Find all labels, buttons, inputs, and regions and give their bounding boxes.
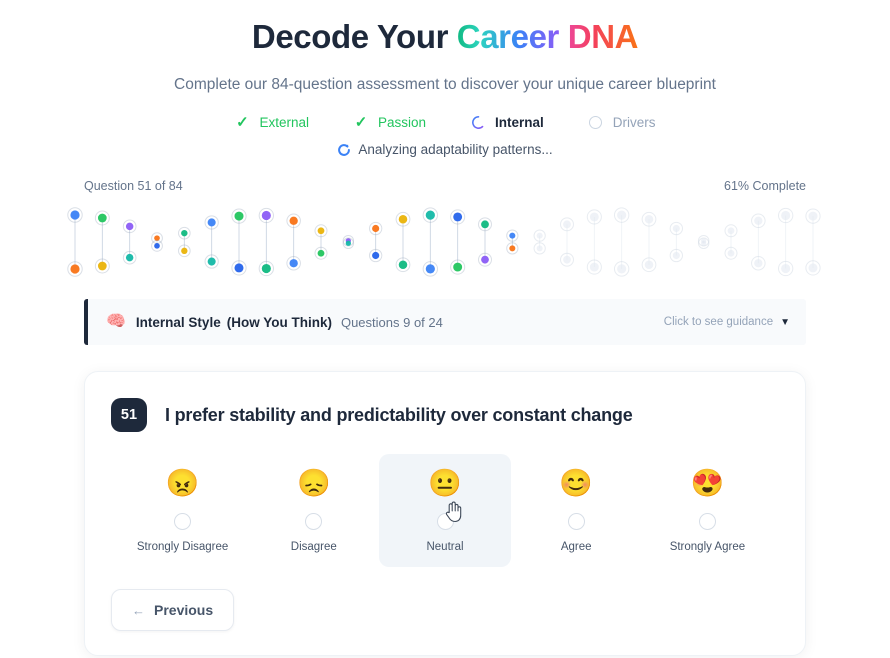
step-label: External — [259, 115, 309, 130]
section-title: Internal Style — [136, 315, 221, 330]
option-label: Disagree — [291, 541, 337, 553]
answer-options: 😠 Strongly Disagree 😞 Disagree 😐 Neutral — [111, 454, 779, 567]
option-neutral[interactable]: 😐 Neutral — [379, 454, 510, 567]
chevron-down-icon: ▼ — [780, 317, 790, 328]
check-icon: ✓ — [353, 114, 369, 130]
angry-face-emoji: 😠 — [166, 468, 200, 498]
step-external[interactable]: ✓ External — [234, 114, 309, 130]
title-space — [559, 18, 568, 55]
page-subtitle: Complete our 84-question assessment to d… — [0, 74, 890, 96]
option-disagree[interactable]: 😞 Disagree — [248, 454, 379, 567]
title-dna: DNA — [568, 18, 638, 55]
dna-helix-visualization — [0, 199, 890, 285]
option-strongly-disagree[interactable]: 😠 Strongly Disagree — [117, 454, 248, 567]
guidance-hint-label: Click to see guidance — [664, 316, 773, 328]
question-number-badge: 51 — [111, 398, 147, 432]
option-label: Strongly Agree — [670, 541, 745, 553]
question-card: 51 I prefer stability and predictability… — [84, 371, 806, 656]
spinner-icon — [470, 114, 486, 130]
smiling-face-emoji: 😊 — [559, 468, 593, 498]
stage-stepper: ✓ External ✓ Passion Internal — [0, 114, 890, 130]
step-label: Passion — [378, 115, 426, 130]
option-radio[interactable] — [305, 513, 322, 530]
page-title: Decode Your Career DNA — [0, 16, 890, 58]
option-label: Agree — [561, 541, 592, 553]
refresh-icon — [337, 143, 351, 157]
question-header: 51 I prefer stability and predictability… — [111, 398, 779, 432]
step-label: Drivers — [613, 115, 656, 130]
question-footer: ← Previous — [111, 589, 779, 631]
title-plain: Decode Your — [252, 18, 457, 55]
option-label: Neutral — [426, 541, 463, 553]
option-strongly-agree[interactable]: 😍 Strongly Agree — [642, 454, 773, 567]
disappointed-face-emoji: 😞 — [297, 468, 331, 498]
section-subtitle: (How You Think) — [227, 315, 332, 330]
progress-meta: Question 51 of 84 61% Complete — [84, 179, 806, 193]
previous-button[interactable]: ← Previous — [111, 589, 234, 631]
percent-complete: 61% Complete — [724, 179, 806, 193]
option-radio[interactable] — [174, 513, 191, 530]
mouse-cursor-pointer — [444, 501, 462, 523]
previous-button-label: Previous — [154, 602, 213, 618]
question-text: I prefer stability and predictability ov… — [165, 405, 633, 426]
option-label: Strongly Disagree — [137, 541, 228, 553]
heart-eyes-emoji: 😍 — [691, 468, 725, 498]
question-counter: Question 51 of 84 — [84, 179, 183, 193]
section-guidance-toggle[interactable]: Click to see guidance ▼ — [664, 316, 790, 328]
section-banner[interactable]: 🧠 Internal Style (How You Think) Questio… — [84, 299, 806, 345]
option-agree[interactable]: 😊 Agree — [511, 454, 642, 567]
empty-circle-icon — [588, 114, 604, 130]
section-question-count: Questions 9 of 24 — [341, 315, 443, 330]
assessment-page: Decode Your Career DNA Complete our 84-q… — [0, 16, 890, 658]
arrow-left-icon: ← — [132, 603, 145, 618]
step-internal[interactable]: Internal — [470, 114, 544, 130]
helix-svg — [65, 199, 825, 285]
check-icon: ✓ — [234, 114, 250, 130]
analyzing-status: Analyzing adaptability patterns... — [0, 142, 890, 157]
brain-emoji: 🧠 — [106, 314, 126, 330]
title-career: Career — [457, 18, 559, 55]
analyzing-text: Analyzing adaptability patterns... — [358, 142, 552, 157]
step-label: Internal — [495, 115, 544, 130]
step-passion[interactable]: ✓ Passion — [353, 114, 426, 130]
option-radio[interactable] — [699, 513, 716, 530]
step-drivers[interactable]: Drivers — [588, 114, 656, 130]
option-radio[interactable] — [568, 513, 585, 530]
neutral-face-emoji: 😐 — [428, 468, 462, 498]
